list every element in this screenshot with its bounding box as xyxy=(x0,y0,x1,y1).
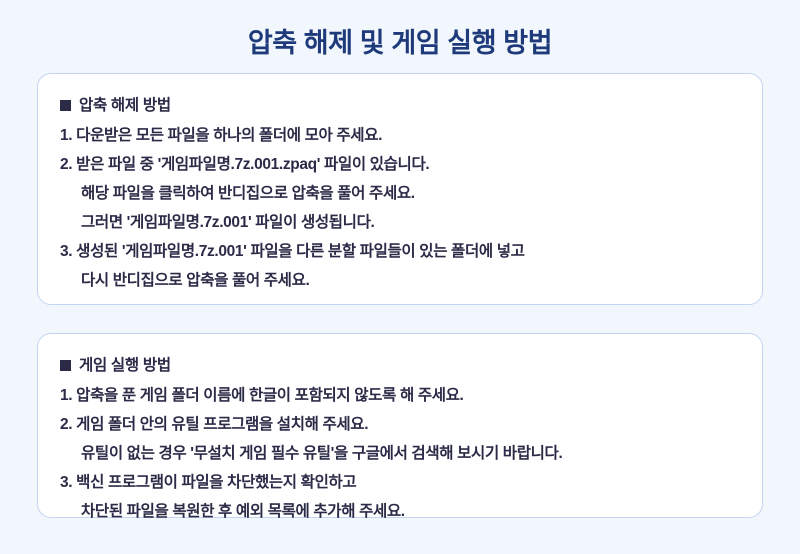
step-line: 1. 압축을 푼 게임 폴더 이름에 한글이 포함되지 않도록 해 주세요. xyxy=(60,381,740,410)
page-title: 압축 해제 및 게임 실행 방법 xyxy=(0,0,800,61)
card-run-game-instructions: 게임 실행 방법 1. 압축을 푼 게임 폴더 이름에 한글이 포함되지 않도록… xyxy=(37,333,763,518)
step-list-unzip: 1. 다운받은 모든 파일을 하나의 폴더에 모아 주세요. 2. 받은 파일 … xyxy=(60,121,740,295)
section-heading-label: 게임 실행 방법 xyxy=(79,351,171,380)
instructions-page: 압축 해제 및 게임 실행 방법 압축 해제 방법 1. 다운받은 모든 파일을… xyxy=(0,0,800,554)
step-line-continuation: 유틸이 없는 경우 '무설치 게임 필수 유틸'을 구글에서 검색해 보시기 바… xyxy=(60,439,740,468)
list-item: 2. 게임 폴더 안의 유틸 프로그램을 설치해 주세요. 유틸이 없는 경우 … xyxy=(60,410,740,468)
step-line-continuation: 그러면 '게임파일명.7z.001' 파일이 생성됩니다. xyxy=(60,208,740,237)
step-line: 1. 다운받은 모든 파일을 하나의 폴더에 모아 주세요. xyxy=(60,121,740,150)
list-item: 3. 백신 프로그램이 파일을 차단했는지 확인하고 차단된 파일을 복원한 후… xyxy=(60,468,740,526)
step-line-continuation: 차단된 파일을 복원한 후 예외 목록에 추가해 주세요. xyxy=(60,497,740,526)
card-unzip-instructions: 압축 해제 방법 1. 다운받은 모든 파일을 하나의 폴더에 모아 주세요. … xyxy=(37,73,763,305)
step-line: 3. 백신 프로그램이 파일을 차단했는지 확인하고 xyxy=(60,468,740,497)
step-list-run: 1. 압축을 푼 게임 폴더 이름에 한글이 포함되지 않도록 해 주세요. 2… xyxy=(60,381,740,526)
step-line-continuation: 해당 파일을 클릭하여 반디집으로 압축을 풀어 주세요. xyxy=(60,179,740,208)
list-item: 3. 생성된 '게임파일명.7z.001' 파일을 다른 분할 파일들이 있는 … xyxy=(60,237,740,295)
step-line: 2. 게임 폴더 안의 유틸 프로그램을 설치해 주세요. xyxy=(60,410,740,439)
step-line-continuation: 다시 반디집으로 압축을 풀어 주세요. xyxy=(60,266,740,295)
list-item: 1. 압축을 푼 게임 폴더 이름에 한글이 포함되지 않도록 해 주세요. xyxy=(60,381,740,410)
section-heading-run: 게임 실행 방법 xyxy=(60,351,740,380)
list-item: 2. 받은 파일 중 '게임파일명.7z.001.zpaq' 파일이 있습니다.… xyxy=(60,150,740,237)
filled-square-bullet-icon xyxy=(60,100,71,111)
list-item: 1. 다운받은 모든 파일을 하나의 폴더에 모아 주세요. xyxy=(60,121,740,150)
section-heading-unzip: 압축 해제 방법 xyxy=(60,91,740,120)
filled-square-bullet-icon xyxy=(60,360,71,371)
section-heading-label: 압축 해제 방법 xyxy=(79,91,171,120)
step-line: 2. 받은 파일 중 '게임파일명.7z.001.zpaq' 파일이 있습니다. xyxy=(60,150,740,179)
step-line: 3. 생성된 '게임파일명.7z.001' 파일을 다른 분할 파일들이 있는 … xyxy=(60,237,740,266)
